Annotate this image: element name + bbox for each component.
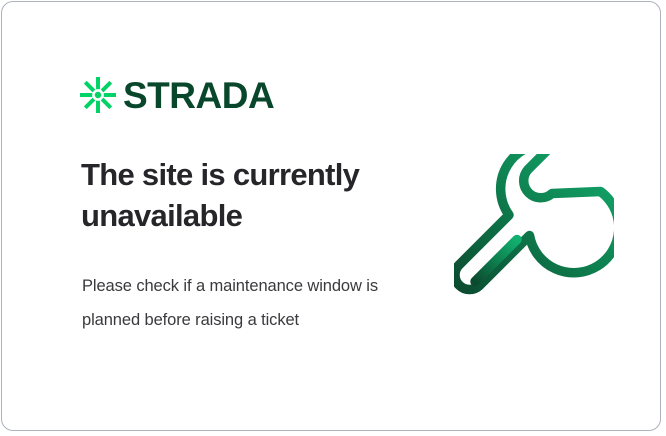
maintenance-card: STRADA The site is currently unavailable…: [1, 1, 661, 431]
asterisk-starburst-icon: [80, 77, 116, 113]
wrench-icon: [454, 154, 614, 316]
brand-wordmark: STRADA: [123, 77, 274, 114]
brand-logo: STRADA: [80, 76, 274, 114]
page-title: The site is currently unavailable: [81, 154, 421, 236]
page-description: Please check if a maintenance window is …: [82, 270, 392, 338]
